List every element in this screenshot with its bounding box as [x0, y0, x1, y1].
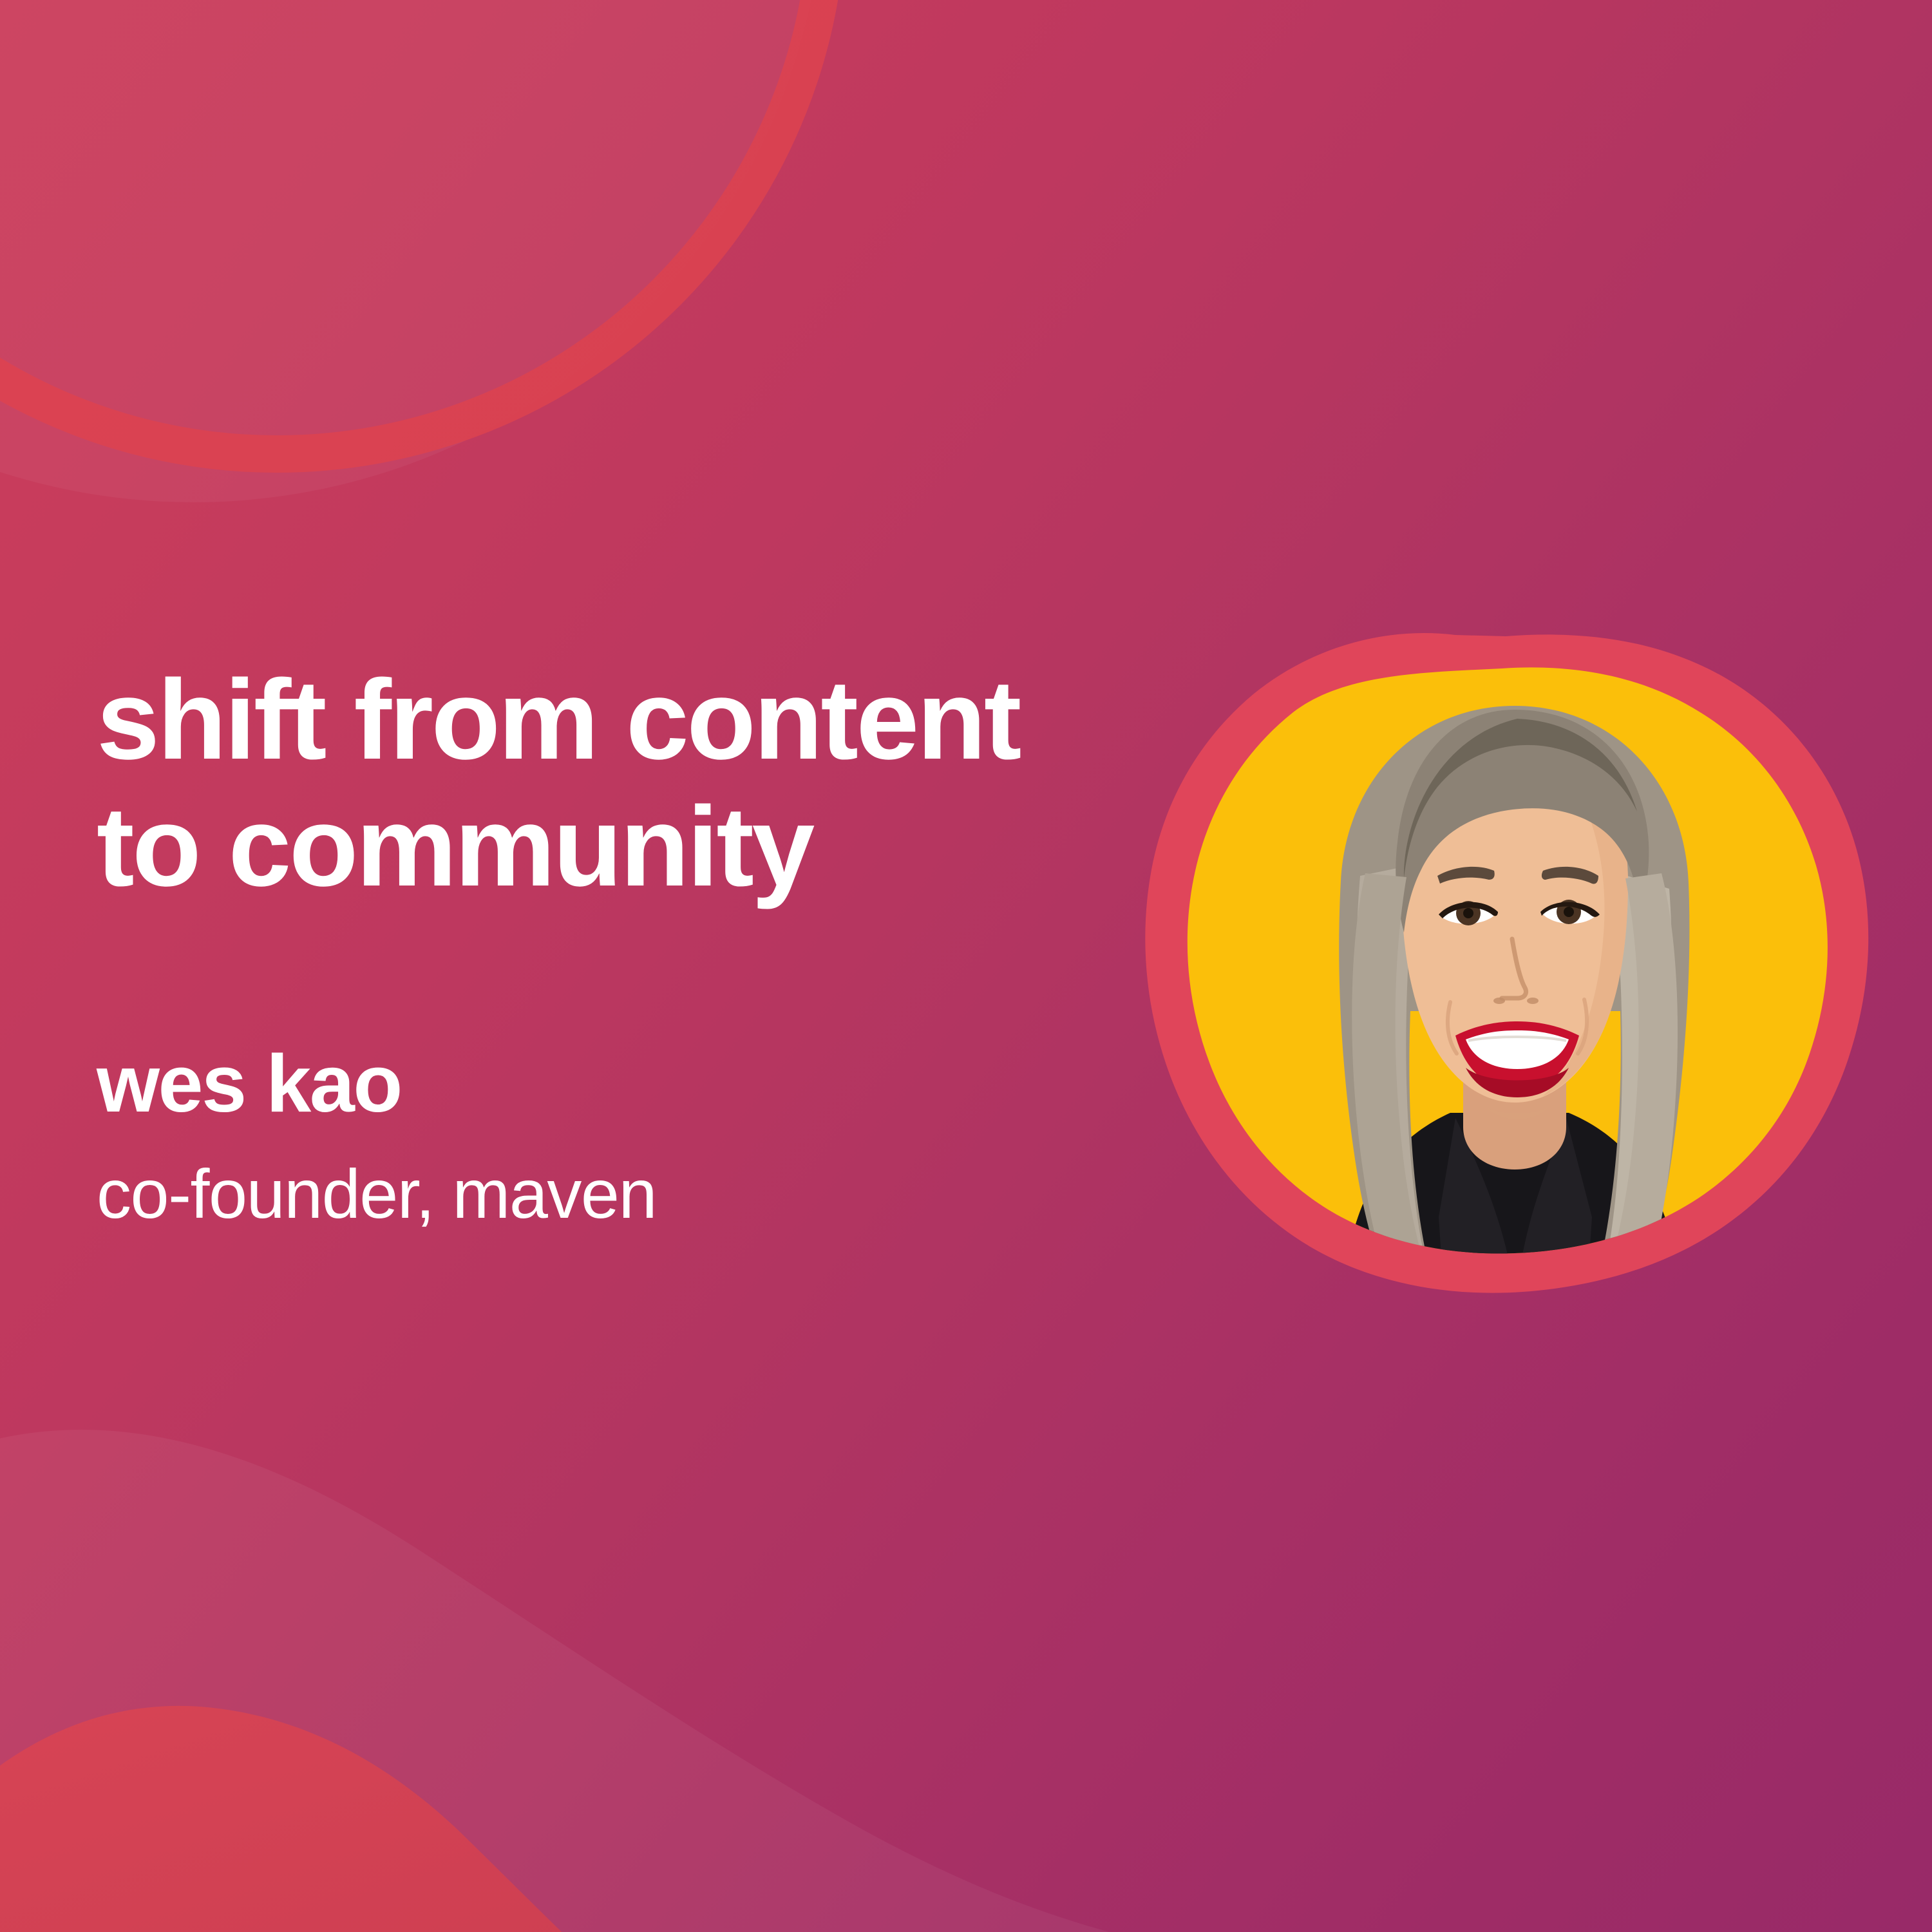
speaker-role: co-founder, maven: [97, 1124, 1140, 1229]
text-column: shift from content to community wes kao …: [97, 657, 1140, 1229]
portrait-graphic: [1133, 618, 1880, 1340]
pupil-right: [1564, 907, 1574, 917]
nostril-right: [1527, 998, 1539, 1004]
speaker-portrait: [1133, 618, 1880, 1340]
headline: shift from content to community: [97, 657, 1140, 911]
top-left-ring-icon: [0, 0, 828, 454]
bottom-left-wave: [0, 1430, 1133, 1932]
pupil-left: [1463, 908, 1473, 918]
nostril-left: [1493, 998, 1505, 1004]
top-left-halo: [0, 0, 824, 502]
speaker-name: wes kao: [97, 911, 1140, 1124]
bottom-left-blob: [0, 1706, 618, 1932]
promo-card: shift from content to community wes kao …: [0, 0, 1932, 1932]
